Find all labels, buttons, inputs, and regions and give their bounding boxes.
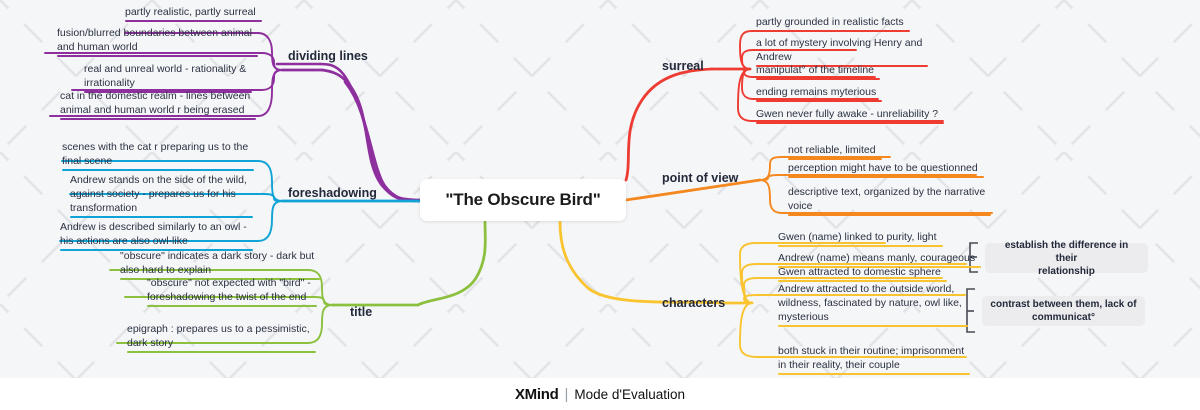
leaf-line: "obscure" not expected with "bird" - <box>147 276 311 290</box>
wire-dividing-lines-main <box>282 70 420 200</box>
leaf-line: against society - prepares us for his <box>70 187 247 201</box>
leaf-node[interactable]: Gwen (name) linked to purity, light <box>778 230 937 246</box>
footer-watermark: XMind | Mode d'Evaluation <box>0 378 1200 410</box>
leaf-node[interactable]: manipulat° of the timeline <box>756 63 874 79</box>
leaf-node[interactable]: "obscure" not expected with "bird" - for… <box>147 276 311 306</box>
leaf-node[interactable]: epigraph : prepares us to a pessimistic,… <box>127 322 310 352</box>
branch-label-title[interactable]: title <box>350 305 372 319</box>
leaf-line: also hard to explain <box>120 263 314 277</box>
mindmap-app: "The Obscure Bird" dividing lines foresh… <box>0 0 1200 410</box>
leaf-line: Gwen (name) linked to purity, light <box>778 230 937 244</box>
callout-line: contrast between them, lack of <box>990 298 1136 311</box>
callout-relationship[interactable]: establish the difference in their relati… <box>985 243 1148 273</box>
leaf-line: Andrew <box>756 50 922 64</box>
callout-line: establish the difference in their <box>993 239 1140 265</box>
leaf-node[interactable]: Gwen attracted to domestic sphere <box>778 265 941 281</box>
branch-label-dividing-lines[interactable]: dividing lines <box>288 49 368 63</box>
callout-line: relationship <box>993 265 1140 278</box>
leaf-node[interactable]: "obscure" indicates a dark story - dark … <box>120 249 314 279</box>
branch-label-surreal[interactable]: surreal <box>662 59 704 73</box>
branch-label-foreshadowing[interactable]: foreshadowing <box>288 186 377 200</box>
leaf-node[interactable]: cat in the domestic realm - lines betwee… <box>60 89 250 119</box>
leaf-line: mysterious <box>778 310 962 324</box>
leaf-line: partly grounded in realistic facts <box>756 15 904 29</box>
leaf-line: foreshadowing the twist of the end <box>147 290 311 304</box>
wire-surreal-main <box>626 69 750 180</box>
leaf-line: and human world <box>57 40 252 54</box>
leaf-line: perception might have to be questionned <box>788 161 978 175</box>
leaf-node[interactable]: both stuck in their routine; imprisonmen… <box>778 344 964 374</box>
leaf-line: fusion/blurred boundaries between animal <box>57 26 252 40</box>
leaf-line: Andrew (name) means manly, courageous <box>778 251 975 265</box>
mindmap-canvas[interactable]: "The Obscure Bird" dividing lines foresh… <box>0 0 1200 378</box>
bracket-contrast <box>967 289 975 332</box>
leaf-line: transformation <box>70 201 247 215</box>
leaf-line: irrationality <box>84 76 246 90</box>
leaf-line: partly realistic, partly surreal <box>125 5 256 19</box>
wire-title-main <box>332 222 485 305</box>
leaf-line: manipulat° of the timeline <box>756 63 874 77</box>
leaf-node[interactable]: not reliable, limited <box>788 143 876 159</box>
leaf-line: Andrew stands on the side of the wild, <box>70 173 247 187</box>
wire-characters-main <box>560 222 752 303</box>
xmind-logo-text: XMind <box>515 386 559 403</box>
leaf-line: Andrew attracted to the outside world, <box>778 282 962 296</box>
leaf-line: voice <box>788 199 985 213</box>
leaf-line: a lot of mystery involving Henry and <box>756 36 922 50</box>
leaf-node[interactable]: partly grounded in realistic facts <box>756 15 904 31</box>
leaf-line: in their reality, their couple <box>778 358 964 372</box>
leaf-line: dark story <box>127 336 310 350</box>
leaf-node[interactable]: a lot of mystery involving Henry and And… <box>756 36 922 66</box>
leaf-line: not reliable, limited <box>788 143 876 157</box>
leaf-node[interactable]: Andrew is described similarly to an owl … <box>60 220 247 250</box>
callout-line: communicat° <box>990 311 1136 324</box>
leaf-line: final scene <box>62 154 248 168</box>
leaf-node[interactable]: Andrew stands on the side of the wild, a… <box>70 173 247 217</box>
leaf-line: "obscure" indicates a dark story - dark … <box>120 249 314 263</box>
leaf-line: his actions are also owl-like <box>60 234 247 248</box>
leaf-line: Gwen never fully awake - unreliability ? <box>756 107 938 121</box>
leaf-line: ending remains myterious <box>756 85 876 99</box>
leaf-line: Andrew is described similarly to an owl … <box>60 220 247 234</box>
central-topic[interactable]: "The Obscure Bird" <box>420 179 626 221</box>
footer-mode-text: Mode d'Evaluation <box>574 387 685 402</box>
leaf-node[interactable]: real and unreal world - rationality & ir… <box>84 62 246 92</box>
branch-label-point-of-view[interactable]: point of view <box>662 171 738 185</box>
leaf-line: descriptive text, organized by the narra… <box>788 185 985 199</box>
branch-label-characters[interactable]: characters <box>662 296 725 310</box>
leaf-node[interactable]: partly realistic, partly surreal <box>125 5 256 21</box>
leaf-node[interactable]: ending remains myterious <box>756 85 876 101</box>
leaf-line: cat in the domestic realm - lines betwee… <box>60 89 250 103</box>
leaf-line: both stuck in their routine; imprisonmen… <box>778 344 964 358</box>
leaf-line: epigraph : prepares us to a pessimistic, <box>127 322 310 336</box>
leaf-node[interactable]: perception might have to be questionned <box>788 161 978 177</box>
leaf-line: scenes with the cat r preparing us to th… <box>62 140 248 154</box>
leaf-node[interactable]: Andrew attracted to the outside world, w… <box>778 282 962 326</box>
leaf-line: wildness, fascinated by nature, owl like… <box>778 296 962 310</box>
leaf-node[interactable]: Gwen never fully awake - unreliability ? <box>756 107 938 123</box>
leaf-node[interactable]: scenes with the cat r preparing us to th… <box>62 140 248 170</box>
leaf-node[interactable]: descriptive text, organized by the narra… <box>788 185 985 215</box>
leaf-line: real and unreal world - rationality & <box>84 62 246 76</box>
leaf-line: Gwen attracted to domestic sphere <box>778 265 941 279</box>
leaf-node[interactable]: fusion/blurred boundaries between animal… <box>57 26 252 56</box>
callout-contrast[interactable]: contrast between them, lack of communica… <box>982 296 1145 326</box>
leaf-line: animal and human world r being erased <box>60 103 250 117</box>
footer-separator: | <box>564 386 568 403</box>
